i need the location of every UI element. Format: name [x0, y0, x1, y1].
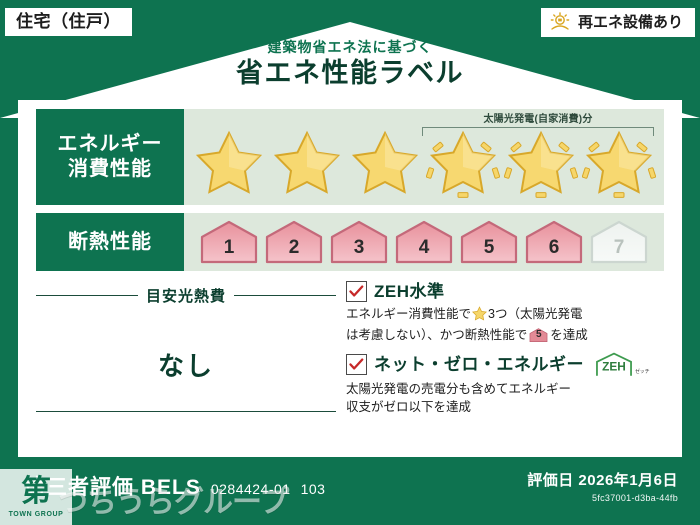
check-icon — [349, 285, 364, 298]
label-subtitle: 建築物省エネ法に基づく — [0, 40, 700, 55]
criterion-1-desc-part1: エネルギー消費性能で — [346, 307, 471, 321]
certificate-number: 0284424-01 — [211, 481, 291, 497]
inline-house-number: 5 — [529, 327, 548, 343]
inline-star-icon — [472, 306, 487, 326]
energy-label-line1: エネルギー — [58, 132, 163, 157]
footer-right: 評価日 2026年1月6日 5fc37001-d3ba-44fb — [527, 469, 678, 503]
zeh-logo-caption: ゼッチ — [635, 368, 649, 375]
criterion-2-description: 太陽光発電の売電分も含めてエネルギー 収支がゼロ以下を達成 — [346, 380, 664, 416]
criterion-2-title: ネット・ゼロ・エネルギー — [374, 356, 584, 373]
evaluation-date: 評価日 2026年1月6日 — [527, 469, 678, 490]
insulation-level-number: 4 — [419, 237, 430, 264]
utility-cost-block: 目安光熱費 なし — [36, 281, 336, 449]
renewable-tag-label: 再エネ設備あり — [578, 15, 683, 30]
star-filled — [348, 129, 422, 199]
cost-rule-left — [36, 295, 138, 296]
cost-rule-right — [234, 295, 336, 296]
energy-performance-label-box: エネルギー 消費性能 — [36, 109, 184, 205]
insulation-performance-row: 断熱性能 1234567 — [36, 213, 664, 271]
sun-icon — [549, 12, 571, 32]
utility-cost-header: 目安光熱費 — [36, 285, 336, 306]
criterion-1-desc-part3: を達成 — [550, 328, 588, 342]
insulation-level-active: 2 — [264, 220, 324, 264]
criterion-zeh-standard: ZEH水準 エネルギー消費性能で3つ（太陽光発電 は考慮しない）、かつ断熱性能で… — [346, 281, 664, 344]
insulation-level-active: 5 — [459, 220, 519, 264]
energy-stars-panel: 太陽光発電(自家消費)分 — [184, 109, 664, 205]
criterion-1-title: ZEH水準 — [374, 283, 445, 300]
page-title: 省エネ性能ラベル — [0, 57, 700, 91]
star-solar — [426, 129, 500, 199]
energy-performance-row: エネルギー 消費性能 太陽光発電(自家消費)分 — [36, 109, 664, 205]
insulation-level-number: 1 — [224, 237, 235, 264]
title-block: 建築物省エネ法に基づく 省エネ性能ラベル — [0, 40, 700, 91]
criterion-1-description: エネルギー消費性能で3つ（太陽光発電 は考慮しない）、かつ断熱性能で5を達成 — [346, 305, 664, 344]
insulation-level-active: 6 — [524, 220, 584, 264]
footer-band: 第三者評価 BELS 0284424-01 103 評価日 2026年1月6日 … — [0, 457, 700, 525]
insulation-performance-label-box: 断熱性能 — [36, 213, 184, 271]
criterion-2-desc-line1: 太陽光発電の売電分も含めてエネルギー — [346, 382, 571, 396]
insulation-level-number: 7 — [614, 237, 625, 264]
renewable-equipment-badge: 再エネ設備あり — [540, 7, 696, 38]
criterion-1-desc-star: 3つ（太陽光発電 — [488, 307, 582, 321]
bels-label: 第三者評価 BELS — [24, 471, 201, 501]
cost-rule-bottom — [36, 411, 336, 412]
criterion-2-header: ネット・ゼロ・エネルギー ZEH ゼッチ — [346, 351, 664, 377]
svg-text:ZEH: ZEH — [602, 360, 626, 374]
utility-cost-value: なし — [36, 346, 336, 383]
star-solar — [504, 129, 578, 199]
inline-house-icon: 5 — [529, 327, 548, 343]
utility-cost-title: 目安光熱費 — [146, 285, 226, 306]
criteria-block: ZEH水準 エネルギー消費性能で3つ（太陽光発電 は考慮しない）、かつ断熱性能で… — [336, 281, 664, 449]
star-rating — [192, 115, 656, 199]
criterion-2-desc-line2: 収支がゼロ以下を達成 — [346, 400, 471, 414]
insulation-level-active: 4 — [394, 220, 454, 264]
check-icon — [349, 358, 364, 371]
criterion-1-header: ZEH水準 — [346, 281, 664, 302]
label-card: エネルギー 消費性能 太陽光発電(自家消費)分 断熱性能 1234567 — [18, 100, 682, 457]
certificate-suffix: 103 — [301, 481, 326, 497]
checkbox-net-zero-energy[interactable] — [346, 354, 367, 375]
lower-section: 目安光熱費 なし ZEH水準 — [36, 281, 664, 449]
insulation-level-number: 5 — [484, 237, 495, 264]
insulation-levels-panel: 1234567 — [184, 213, 664, 271]
insulation-level-number: 3 — [354, 237, 365, 264]
insulation-level-active: 1 — [199, 220, 259, 264]
checkbox-zeh-standard[interactable] — [346, 281, 367, 302]
criterion-net-zero-energy: ネット・ゼロ・エネルギー ZEH ゼッチ 太陽光発電の売電分も含めてエネルギー … — [346, 351, 664, 416]
zeh-house-icon: ZEH — [594, 351, 634, 377]
criterion-1-desc-part2: は考慮しない）、かつ断熱性能で — [346, 328, 527, 342]
insulation-level-number: 6 — [549, 237, 560, 264]
insulation-level-inactive: 7 — [589, 220, 649, 264]
energy-label-line2: 消費性能 — [68, 157, 152, 182]
insulation-level-number: 2 — [289, 237, 300, 264]
building-type-tag: 住宅（住戸） — [4, 7, 133, 37]
star-filled — [192, 129, 266, 199]
energy-performance-label: 住宅（住戸） 再エネ設備あり 建築物省エネ法に基づく 省エネ性能ラベル — [0, 0, 700, 525]
star-filled — [270, 129, 344, 199]
document-hash: 5fc37001-d3ba-44fb — [527, 493, 678, 503]
footer-left: 第三者評価 BELS 0284424-01 103 — [24, 471, 325, 501]
insulation-level-active: 3 — [329, 220, 389, 264]
zeh-logo: ZEH ゼッチ — [594, 351, 649, 377]
star-solar — [582, 129, 656, 199]
insulation-label: 断熱性能 — [68, 230, 152, 255]
insulation-level-list: 1234567 — [199, 220, 649, 264]
